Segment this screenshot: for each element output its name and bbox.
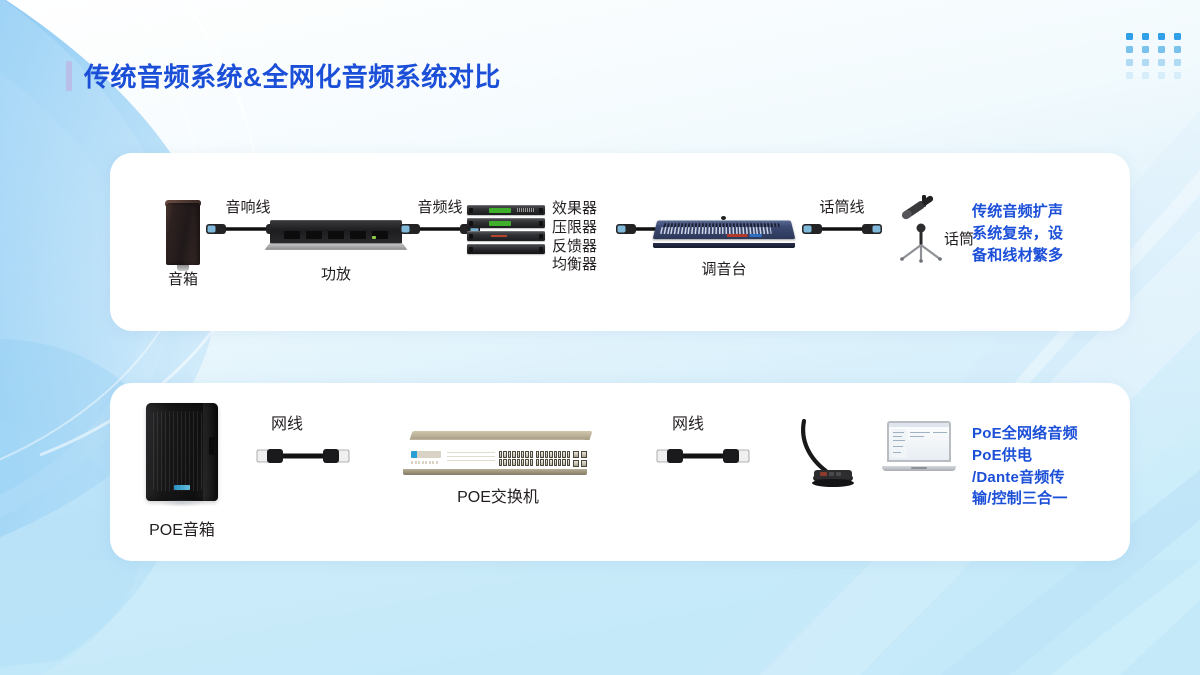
laptop-icon (882, 421, 956, 471)
amplifier-label: 功放 (296, 266, 376, 285)
speaker-label: 音箱 (145, 271, 221, 290)
rack-labels: 效果器 压限器 反馈器 均衡器 (552, 200, 597, 275)
rack-label-0: 效果器 (552, 200, 597, 219)
page-title-text: 传统音频系统&全网化音频系统对比 (84, 57, 501, 94)
poe-speaker-icon (146, 403, 218, 501)
rj45-cable-icon (255, 445, 351, 467)
page-title: 传统音频系统&全网化音频系统对比 (66, 57, 501, 94)
network-cable-2-label: 网线 (648, 415, 728, 435)
rack-label-3: 均衡器 (552, 256, 597, 275)
speaker-cable-label: 音响线 (200, 199, 296, 218)
amplifier-icon (270, 216, 402, 250)
poe-switch-label: POE交换机 (430, 488, 566, 508)
mic-cable-label: 话筒线 (794, 199, 890, 218)
rack-label-1: 压限器 (552, 219, 597, 238)
gooseneck-microphone-icon (798, 415, 860, 491)
callout-traditional: 传统音频扩声 系统复杂，设 备和线材繁多 (972, 201, 1122, 266)
microphone-icon (890, 195, 952, 263)
mixer-icon (655, 218, 793, 248)
rack-units-icon (467, 205, 545, 257)
speaker-icon (166, 203, 200, 265)
rack-label-2: 反馈器 (552, 238, 597, 257)
dot-grid-icon (1126, 33, 1184, 79)
poe-switch-icon (405, 431, 591, 475)
slide-background (0, 0, 1200, 675)
panel-traditional-audio-system: 音箱 音响线 功放 音频线 (110, 153, 1130, 331)
network-cable-1-label: 网线 (247, 415, 327, 435)
panel-networked-audio-system: POE音箱 网线 (110, 383, 1130, 561)
mixer-label: 调音台 (684, 261, 764, 280)
audio-cable-icon-4 (800, 219, 886, 239)
rj45-cable-icon-2 (655, 445, 751, 467)
poe-speaker-label: POE音箱 (128, 521, 236, 541)
title-accent-bar (66, 61, 72, 91)
callout-networked: PoE全网络音频 PoE供电 /Dante音频传 输/控制三合一 (972, 423, 1130, 510)
